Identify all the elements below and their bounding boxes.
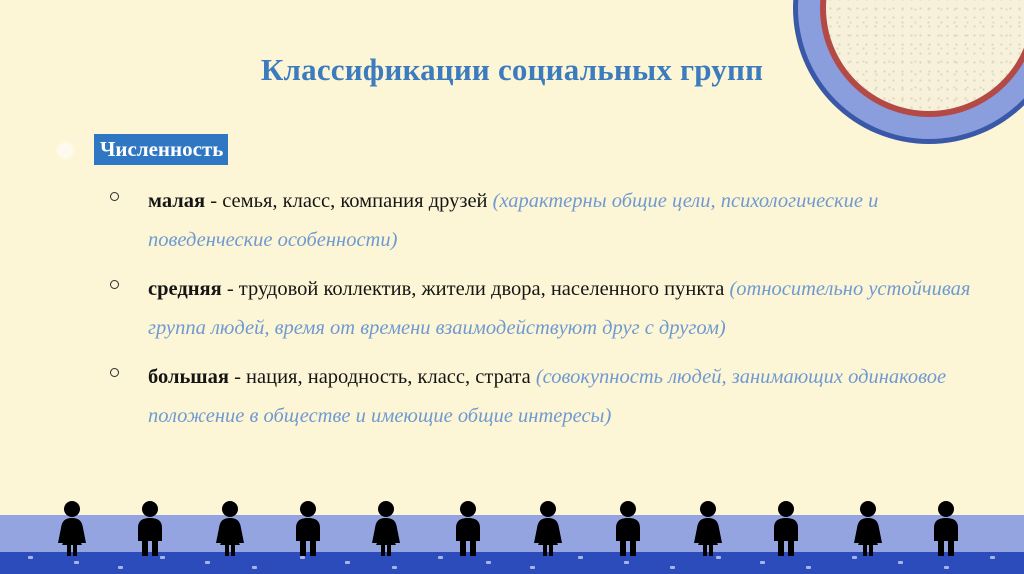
list-item-keyword: малая [148, 190, 205, 212]
list-item-dash: - [229, 366, 246, 388]
person-silhouette-male [130, 500, 170, 556]
person-silhouette-female [210, 500, 250, 556]
list-item-text: малая - семья, класс, компания друзей (х… [148, 190, 878, 251]
filled-dot-bullet-icon [60, 145, 71, 156]
person-silhouette-female [848, 500, 888, 556]
person-silhouette-male [288, 500, 328, 556]
list-item-dash: - [222, 278, 239, 300]
person-silhouette-female [366, 500, 406, 556]
list-item: большая - нация, народность, класс, стра… [0, 358, 1024, 436]
list-item-examples: нация, народность, класс, страта [246, 366, 536, 388]
hollow-circle-bullet-icon [110, 368, 119, 377]
person-silhouette-female [528, 500, 568, 556]
slide-title: Классификации социальных групп [0, 52, 1024, 88]
person-silhouette-male [926, 500, 966, 556]
person-silhouette-male [448, 500, 488, 556]
list-item: малая - семья, класс, компания друзей (х… [0, 182, 1024, 260]
category-highlight-label: Численность [94, 134, 228, 165]
list-item-dash: - [205, 190, 222, 212]
people-silhouettes [0, 500, 1024, 574]
content-list: Численность малая - семья, класс, компан… [0, 134, 1024, 436]
list-item-level1: Численность [0, 134, 1024, 172]
list-item: средняя - трудовой коллектив, жители дво… [0, 270, 1024, 348]
person-silhouette-male [608, 500, 648, 556]
list-item-examples: трудовой коллектив, жители двора, населе… [239, 278, 730, 300]
person-silhouette-male [766, 500, 806, 556]
person-silhouette-female [52, 500, 92, 556]
slide-canvas: Классификации социальных групп Численнос… [0, 0, 1024, 574]
hollow-circle-bullet-icon [110, 280, 119, 289]
list-item-text: большая - нация, народность, класс, стра… [148, 366, 946, 427]
hollow-circle-bullet-icon [110, 192, 119, 201]
list-item-examples: семья, класс, компания друзей [222, 190, 492, 212]
list-item-keyword: средняя [148, 278, 222, 300]
person-silhouette-female [688, 500, 728, 556]
list-item-keyword: большая [148, 366, 229, 388]
list-item-text: средняя - трудовой коллектив, жители дво… [148, 278, 970, 339]
